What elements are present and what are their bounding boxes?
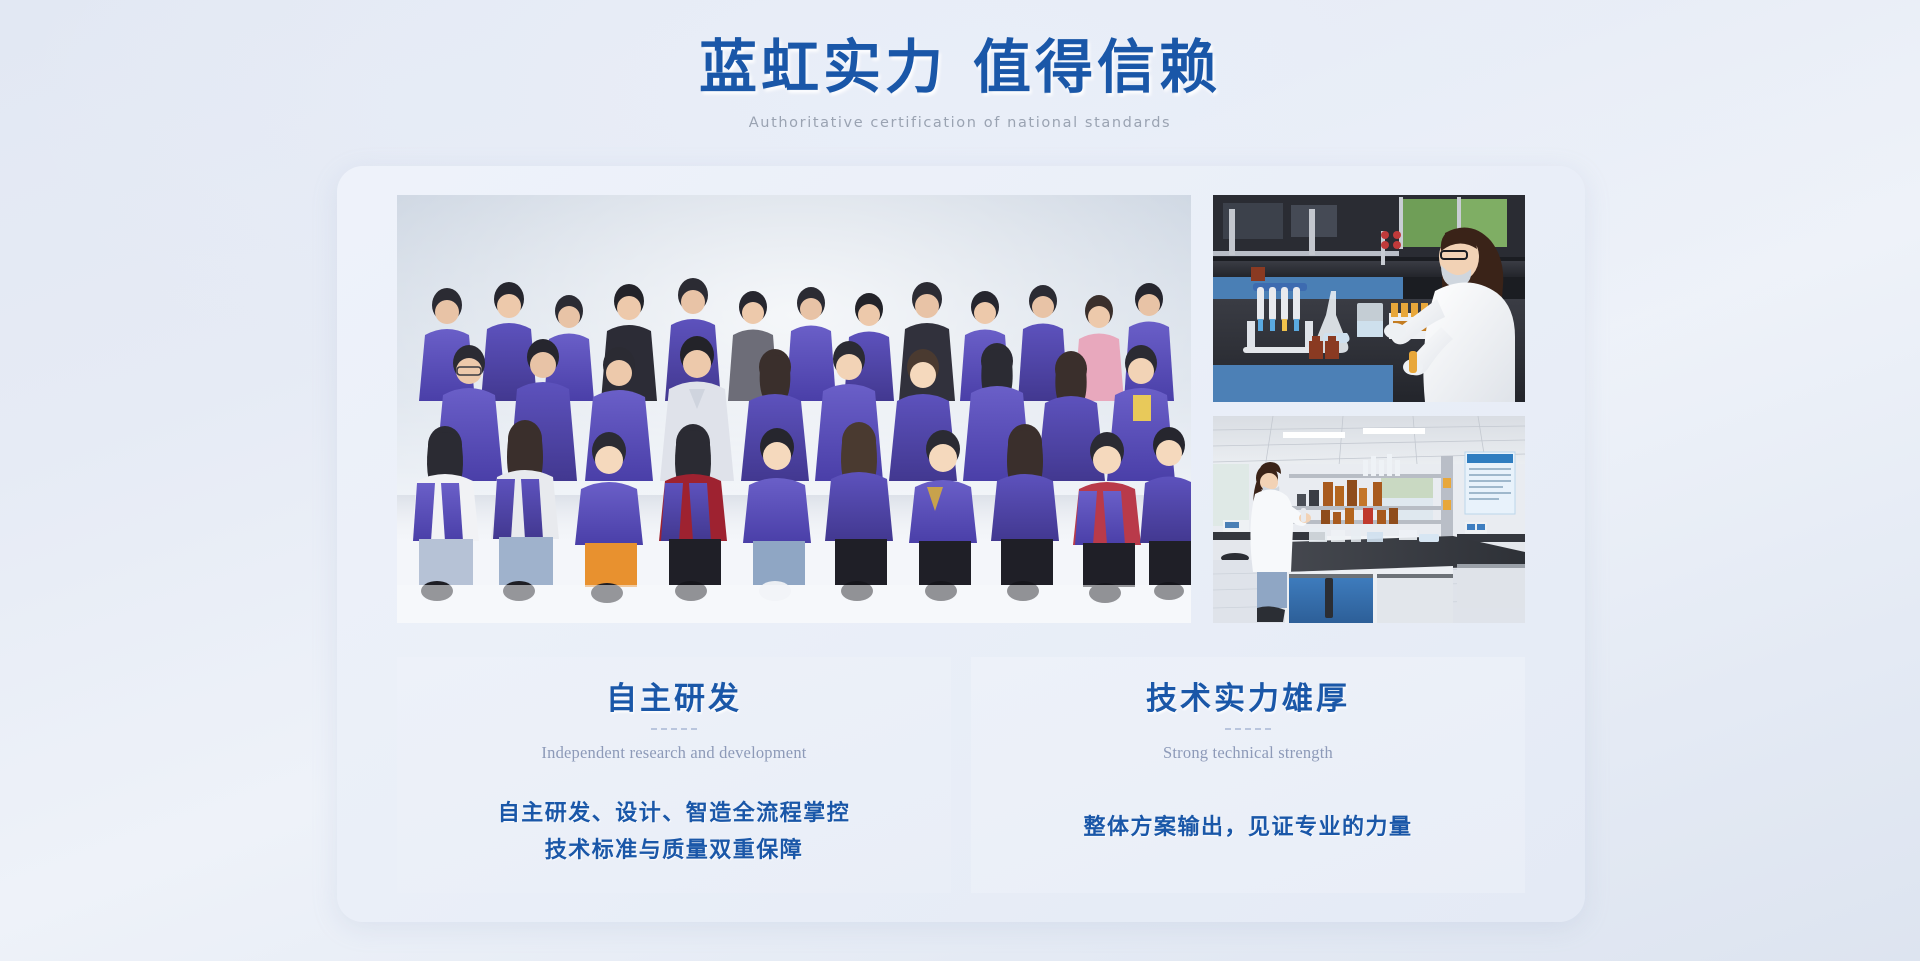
card-title-independent-rd: 自主研发 <box>397 679 951 719</box>
page-title-part-2: 值得信赖 <box>973 35 1221 100</box>
card-divider <box>651 728 697 730</box>
card-body-line: 技术标准与质量双重保障 <box>397 832 951 868</box>
card-body-line: 自主研发、设计、智造全流程掌控 <box>397 795 951 831</box>
feature-card-technical-strength[interactable]: 技术实力雄厚 Strong technical strength 整体方案输出，… <box>971 657 1525 893</box>
team-group-photo-image <box>397 195 1191 623</box>
lab-technician-photo-image <box>1213 195 1525 402</box>
media-grid <box>397 195 1525 623</box>
card-subtitle-technical-strength: Strong technical strength <box>971 743 1525 763</box>
laboratory-room-photo <box>1213 416 1525 623</box>
card-divider <box>1225 728 1271 730</box>
page-subtitle: Authoritative certification of national … <box>0 115 1920 131</box>
feature-cards: 自主研发 Independent research and developmen… <box>397 657 1525 893</box>
card-subtitle-independent-rd: Independent research and development <box>397 743 951 763</box>
content-panel: 自主研发 Independent research and developmen… <box>337 166 1585 922</box>
card-title-technical-strength: 技术实力雄厚 <box>971 679 1525 719</box>
panel-inner: 自主研发 Independent research and developmen… <box>397 195 1525 893</box>
feature-card-independent-rd[interactable]: 自主研发 Independent research and developmen… <box>397 657 951 893</box>
lab-technician-photo <box>1213 195 1525 402</box>
page-title: 蓝虹实力值得信赖 <box>0 32 1920 105</box>
team-group-photo <box>397 195 1191 623</box>
page-title-part-1: 蓝虹实力 <box>699 35 947 100</box>
card-body-line: 整体方案输出，见证专业的力量 <box>971 809 1525 845</box>
card-body-technical-strength: 整体方案输出，见证专业的力量 <box>971 809 1525 845</box>
laboratory-room-photo-image <box>1213 416 1525 623</box>
page-header: 蓝虹实力值得信赖 Authoritative certification of … <box>0 0 1920 131</box>
card-body-independent-rd: 自主研发、设计、智造全流程掌控 技术标准与质量双重保障 <box>397 795 951 868</box>
